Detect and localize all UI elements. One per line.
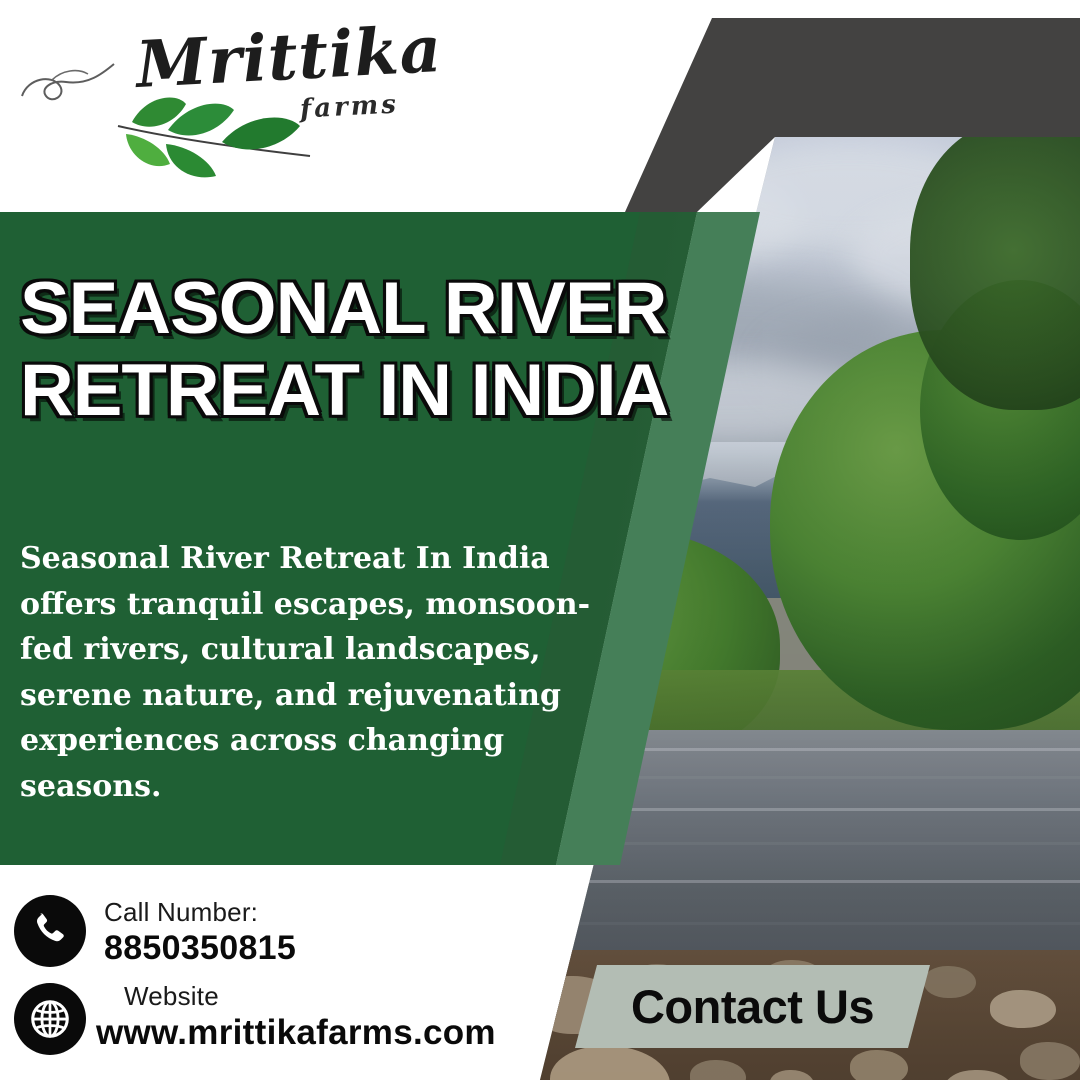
contact-row-phone[interactable]: Call Number: 8850350815	[14, 895, 534, 983]
contact-us-label: Contact Us	[575, 965, 930, 1048]
globe-icon	[14, 983, 86, 1055]
contact-info: Call Number: 8850350815 Website www.mrit…	[14, 895, 534, 1071]
page-title: SEASONAL RIVER RETREAT IN INDIA	[20, 268, 724, 432]
contact-us-button[interactable]: Contact Us	[575, 965, 930, 1048]
logo-tagline: farms	[299, 89, 399, 124]
contact-row-website[interactable]: Website www.mrittikafarms.com	[14, 983, 534, 1071]
phone-number[interactable]: 8850350815	[104, 929, 296, 968]
poster-canvas: Mrittika farms SEASONAL RIVER RETREAT IN…	[0, 0, 1080, 1080]
headline-line-1: SEASONAL RIVER	[20, 268, 724, 350]
website-label: Website	[124, 981, 219, 1012]
brand-logo[interactable]: Mrittika farms	[18, 14, 438, 194]
headline-line-2: RETREAT IN INDIA	[20, 350, 724, 432]
description-text: Seasonal River Retreat In India offers t…	[20, 536, 620, 810]
website-url[interactable]: www.mrittikafarms.com	[96, 1013, 496, 1053]
phone-label: Call Number:	[104, 897, 258, 928]
phone-icon	[14, 895, 86, 967]
